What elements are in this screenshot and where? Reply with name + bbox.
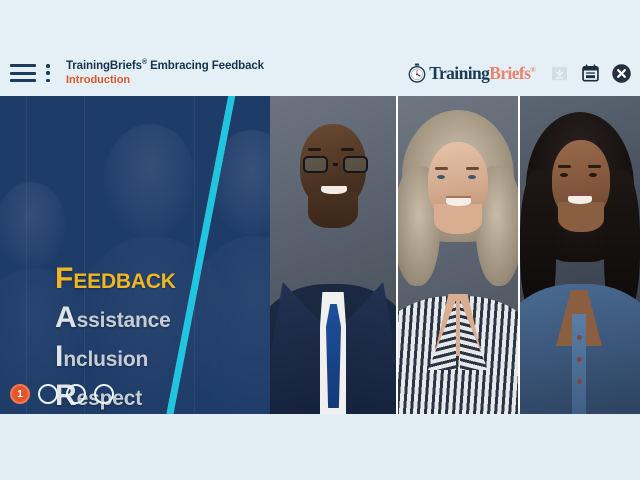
close-icon[interactable] [610,62,632,84]
notes-icon[interactable] [579,62,601,84]
download-icon[interactable] [548,62,570,84]
top-toolbar: TrainingBriefs® Embracing Feedback Intro… [0,0,640,96]
course-title-block: TrainingBriefs® Embracing Feedback Intro… [66,59,264,87]
portrait-panels [270,96,640,414]
hamburger-line [10,64,36,67]
logo-registered-mark: ® [530,66,535,74]
pagination-dot-1[interactable]: 1 [10,384,30,404]
panel-divider [194,96,195,414]
kebab-dot [46,71,50,75]
pagination-dot-3[interactable] [66,384,86,404]
slide-pagination: 1 [10,384,114,404]
panel-divider [26,96,27,414]
logo-word-briefs: Briefs [489,63,530,83]
toolbar-actions: TrainingBriefs® [407,50,632,96]
portrait-woman-curly-blonde [398,96,518,414]
pagination-dot-4[interactable] [94,384,114,404]
acronym-cap: F [55,262,73,295]
acronym-rest: nclusion [63,348,148,371]
course-player-window: TrainingBriefs® Embracing Feedback Intro… [0,0,640,480]
eyeglasses [303,156,368,173]
page-title-brand: TrainingBriefs [66,60,142,72]
page-title-rest: Embracing Feedback [147,60,264,72]
hamburger-line [10,79,36,82]
page-title: TrainingBriefs® Embracing Feedback [66,59,264,73]
logo-word-training: Training [429,63,489,83]
pagination-dot-2[interactable] [38,384,58,404]
slide-canvas: FEEDBACK Assistance Inclusion Respect 1 [0,96,640,414]
kebab-dot [46,79,50,83]
acronym-line-assistance: Assistance [55,303,176,333]
acronym-rest: ssistance [77,309,171,332]
acronym-cap: A [55,301,77,334]
vertical-dots-menu-icon[interactable] [41,64,55,82]
hamburger-line [10,72,36,75]
acronym-line-inclusion: Inclusion [55,342,176,372]
trainingbriefs-logo: TrainingBriefs® [407,63,535,84]
kebab-dot [46,64,50,68]
portrait-woman-denim-shirt [520,96,640,414]
logo-wordmark: TrainingBriefs® [429,63,535,84]
player-background [0,414,640,480]
hamburger-menu-icon[interactable] [10,64,36,82]
page-subtitle: Introduction [66,74,264,87]
acronym-line-feedback: FEEDBACK [55,264,176,294]
portrait-man-glasses-suit [270,96,396,414]
stopwatch-icon [407,63,427,83]
acronym-rest: EEDBACK [73,270,175,293]
